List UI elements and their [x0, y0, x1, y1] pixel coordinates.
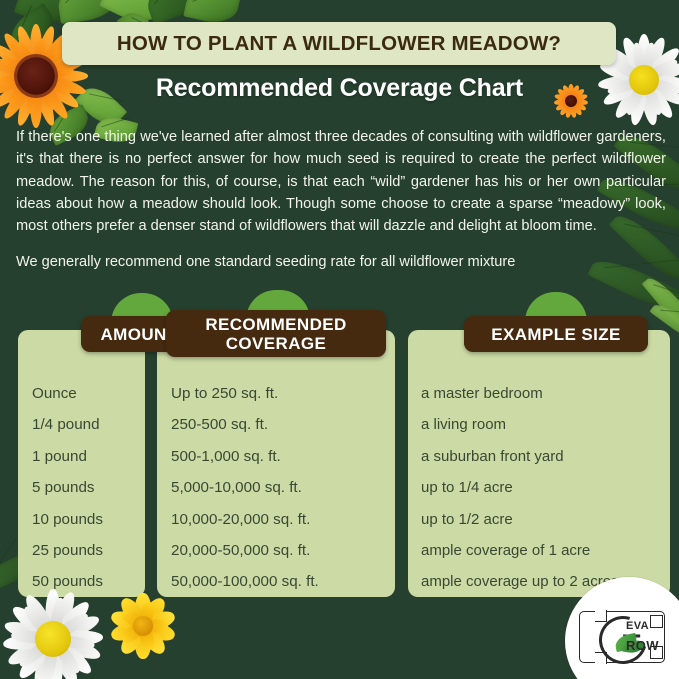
table-row: Up to 250 sq. ft. [171, 378, 381, 409]
card-amount: Ounce 1/4 pound 1 pound 5 pounds 10 poun… [18, 330, 145, 597]
logo-notch-icon [595, 610, 607, 622]
amount-rows: Ounce 1/4 pound 1 pound 5 pounds 10 poun… [18, 378, 145, 598]
white-daisy-bottom-icon [0, 580, 112, 679]
infographic-page: HOW TO PLANT A WILDFLOWER MEADOW? Recomm… [0, 0, 679, 679]
recommendation-note: We generally recommend one standard seed… [16, 251, 666, 273]
table-row: 1 pound [32, 441, 131, 472]
table-row: up to 1/2 acre [421, 504, 666, 535]
table-row: 5 pounds [32, 472, 131, 503]
column-header-example-size: EXAMPLE SIZE [464, 316, 648, 352]
table-row: a living room [421, 409, 666, 440]
table-row: Ounce [32, 378, 131, 409]
coverage-rows: Up to 250 sq. ft. 250-500 sq. ft. 500-1,… [157, 378, 395, 598]
table-row: 50,000-100,000 sq. ft. [171, 566, 381, 597]
table-row: 10 pounds [32, 504, 131, 535]
column-header-recommended-coverage: RECOMMENDED COVERAGE [166, 310, 386, 357]
table-row: a master bedroom [421, 378, 666, 409]
table-row: 500-1,000 sq. ft. [171, 441, 381, 472]
column-header-example-size-label: EXAMPLE SIZE [491, 325, 621, 344]
example-rows: a master bedroom a living room a suburba… [408, 378, 670, 598]
card-recommended-coverage: Up to 250 sq. ft. 250-500 sq. ft. 500-1,… [157, 330, 395, 597]
column-header-recommended-coverage-label: RECOMMENDED COVERAGE [205, 315, 346, 353]
logo-text-eva: EVA [626, 620, 649, 632]
table-row: 25 pounds [32, 535, 131, 566]
yellow-flower-icon [105, 588, 181, 664]
table-row: 250-500 sq. ft. [171, 409, 381, 440]
table-row: up to 1/4 acre [421, 472, 666, 503]
intro-paragraph: If there's one thing we've learned after… [16, 126, 666, 237]
table-row: 5,000-10,000 sq. ft. [171, 472, 381, 503]
title-banner: HOW TO PLANT A WILDFLOWER MEADOW? [62, 22, 616, 65]
card-example-size: a master bedroom a living room a suburba… [408, 330, 670, 597]
page-subtitle: Recommended Coverage Chart [0, 74, 679, 103]
table-row: 20,000-50,000 sq. ft. [171, 535, 381, 566]
table-row: 1/4 pound [32, 409, 131, 440]
page-title: HOW TO PLANT A WILDFLOWER MEADOW? [117, 32, 561, 56]
logo-notch-icon [650, 615, 663, 628]
table-row: a suburban front yard [421, 441, 666, 472]
eva-grow-logo[interactable]: EVA ROW [579, 611, 665, 663]
table-row: ample coverage of 1 acre [421, 535, 666, 566]
logo-text-row: ROW [626, 638, 659, 653]
table-row: 10,000-20,000 sq. ft. [171, 504, 381, 535]
flower-core [35, 621, 71, 657]
flower-core [133, 616, 153, 636]
